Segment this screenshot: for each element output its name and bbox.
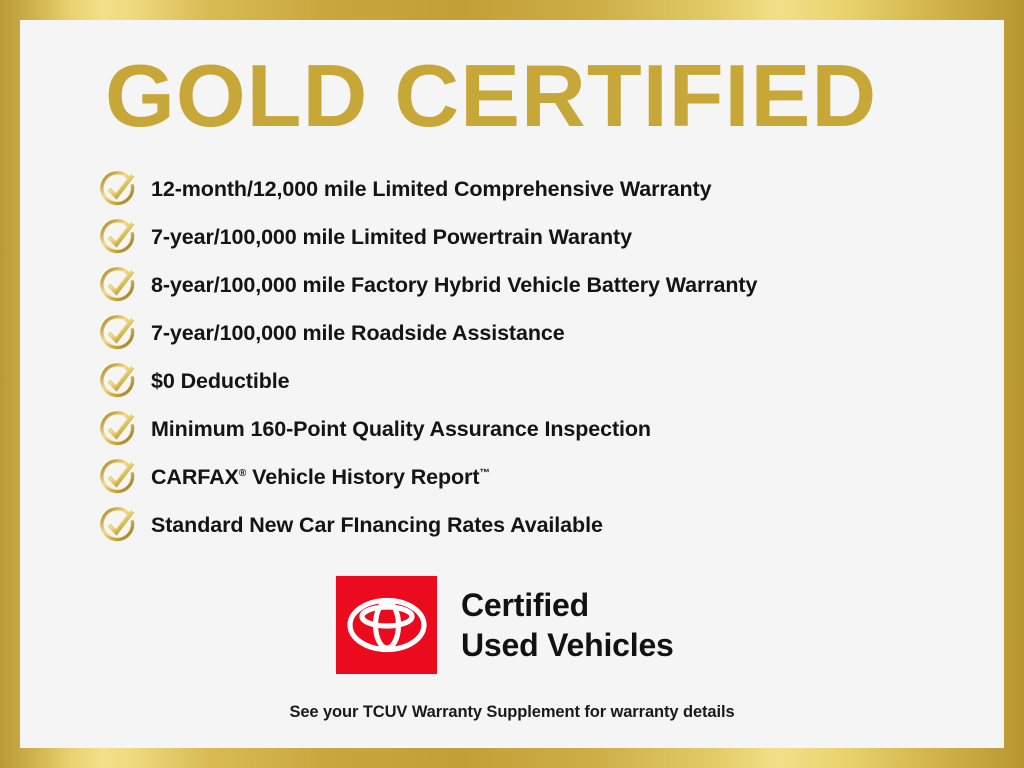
check-circle-icon (97, 216, 139, 258)
benefit-row: Minimum 160-Point Quality Assurance Insp… (97, 405, 997, 453)
check-circle-icon (97, 456, 139, 498)
gold-certified-badge-card: GOLD CERTIFIED 12-month/12,000 mile Limi… (0, 0, 1024, 768)
check-circle-icon (97, 264, 139, 306)
benefit-label: 12-month/12,000 mile Limited Comprehensi… (151, 177, 711, 202)
benefit-label: Minimum 160-Point Quality Assurance Insp… (151, 417, 651, 442)
benefit-label: CARFAX® Vehicle History Report™ (151, 465, 490, 490)
check-circle-icon (97, 168, 139, 210)
wordmark-line-used-vehicles: Used Vehicles (461, 625, 674, 665)
check-circle-icon (97, 504, 139, 546)
benefit-row: 7-year/100,000 mile Limited Powertrain W… (97, 213, 997, 261)
benefit-row: 12-month/12,000 mile Limited Comprehensi… (97, 165, 997, 213)
check-circle-icon (97, 312, 139, 354)
benefit-list: 12-month/12,000 mile Limited Comprehensi… (97, 165, 997, 549)
content-panel: GOLD CERTIFIED 12-month/12,000 mile Limi… (20, 20, 1004, 748)
benefit-row: 8-year/100,000 mile Factory Hybrid Vehic… (97, 261, 997, 309)
toyota-emblem-icon (336, 576, 437, 674)
benefit-row: CARFAX® Vehicle History Report™ (97, 453, 997, 501)
benefit-row: 7-year/100,000 mile Roadside Assistance (97, 309, 997, 357)
benefit-label: 8-year/100,000 mile Factory Hybrid Vehic… (151, 273, 757, 298)
benefit-label: 7-year/100,000 mile Limited Powertrain W… (151, 225, 632, 250)
benefit-row: Standard New Car FInancing Rates Availab… (97, 501, 997, 549)
benefit-label: $0 Deductible (151, 369, 290, 394)
benefit-label: 7-year/100,000 mile Roadside Assistance (151, 321, 565, 346)
toyota-wordmark: Certified Used Vehicles (461, 585, 674, 665)
check-circle-icon (97, 408, 139, 450)
page-title: GOLD CERTIFIED (105, 48, 952, 144)
warranty-disclaimer: See your TCUV Warranty Supplement for wa… (20, 703, 1004, 722)
benefit-label: Standard New Car FInancing Rates Availab… (151, 513, 603, 538)
wordmark-line-certified: Certified (461, 585, 674, 625)
benefit-row: $0 Deductible (97, 357, 997, 405)
check-circle-icon (97, 360, 139, 402)
toyota-certified-used-vehicles-lockup: Certified Used Vehicles (336, 575, 716, 675)
